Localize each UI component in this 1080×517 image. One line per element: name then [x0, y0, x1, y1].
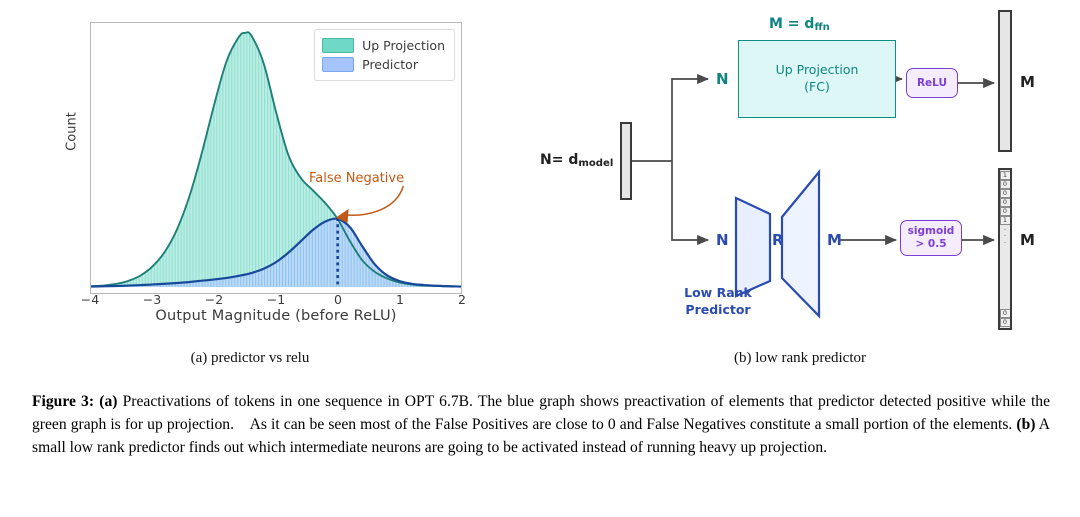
- x-tick-6: 2: [458, 292, 466, 307]
- x-tick-4: 0: [334, 292, 342, 307]
- figure-caption: Figure 3: (a) Preactivations of tokens i…: [32, 390, 1050, 459]
- output-vector-bar-top: [998, 10, 1012, 152]
- binary-mask-bits-bottom: 00: [1000, 309, 1011, 328]
- legend-item-predictor: Predictor: [322, 55, 445, 74]
- legend-item-up-projection: Up Projection: [322, 36, 445, 55]
- diagram-ffn-dimension-label: M = dffn: [769, 16, 830, 33]
- subcaption-a: (a) predictor vs relu: [0, 350, 500, 367]
- relu-chip-label: ReLU: [917, 77, 947, 90]
- chart-plot-area: Up Projection Predictor False Negative: [90, 22, 462, 294]
- chart-panel-predictor-vs-relu: Count: [22, 4, 482, 340]
- figure-row: Count: [0, 0, 1080, 345]
- binary-mask-bit: 0: [1000, 207, 1011, 216]
- binary-mask-vector-bar: 100001 ... 00: [998, 168, 1012, 330]
- legend-label-predictor: Predictor: [362, 57, 418, 72]
- x-tick-1: −3: [143, 292, 161, 307]
- label-m-lowrank-output: M: [827, 231, 842, 249]
- caption-text-a: Preactivations of tokens in one sequence…: [32, 393, 1050, 433]
- legend-swatch-predictor: [322, 57, 354, 72]
- sigmoid-chip-line-1: sigmoid: [908, 225, 955, 238]
- caption-tag-b: (b): [1016, 416, 1035, 433]
- chart-x-axis-label: Output Magnitude (before ReLU): [90, 308, 462, 324]
- up-projection-line-1: Up Projection: [776, 62, 859, 79]
- input-vector-bar: [620, 122, 632, 200]
- label-m-top-output: M: [1020, 73, 1035, 91]
- sigmoid-chip-line-2: > 0.5: [915, 238, 946, 251]
- false-negative-annotation: False Negative: [309, 171, 404, 186]
- x-tick-0: −4: [81, 292, 99, 307]
- false-negative-arrow: [345, 186, 404, 215]
- caption-figure-number: Figure 3:: [32, 393, 94, 410]
- low-rank-caption-line-1: Low Rank: [684, 285, 752, 300]
- x-tick-2: −2: [205, 292, 223, 307]
- legend-label-up-projection: Up Projection: [362, 38, 445, 53]
- chart-legend: Up Projection Predictor: [314, 29, 455, 81]
- x-tick-3: −1: [267, 292, 285, 307]
- chart-y-axis-label: Count: [65, 72, 80, 192]
- diagram-input-dimension-label: N= dmodel: [540, 152, 613, 169]
- binary-mask-bits-top: 100001: [1000, 170, 1011, 225]
- sigmoid-threshold-chip: sigmoid > 0.5: [900, 220, 962, 256]
- binary-mask-ellipsis: ...: [1004, 225, 1006, 244]
- binary-mask-bit: 0: [1000, 198, 1011, 207]
- diagram-panel-low-rank-predictor: N= dmodel M = dffn 100001 ... 00 Up Proj…: [520, 0, 1080, 345]
- subcaption-b: (b) low rank predictor: [520, 350, 1080, 367]
- label-n-top: N: [716, 70, 729, 88]
- up-projection-box-text: Up Projection (FC): [739, 41, 895, 117]
- x-tick-5: 1: [396, 292, 404, 307]
- binary-mask-bit: 0: [1000, 189, 1011, 198]
- label-r-middle: R: [772, 231, 784, 249]
- label-m-bottom-output: M: [1020, 231, 1035, 249]
- caption-tag-a: (a): [99, 393, 117, 410]
- relu-chip: ReLU: [906, 68, 958, 98]
- binary-mask-bit: 0: [1000, 180, 1011, 189]
- binary-mask-bit: 1: [1000, 171, 1011, 180]
- binary-mask-bit: 0: [1000, 309, 1011, 318]
- binary-mask-bit: 0: [1000, 318, 1011, 327]
- subcaptions: (a) predictor vs relu (b) low rank predi…: [0, 350, 1080, 376]
- up-projection-box: Up Projection (FC): [738, 40, 896, 118]
- low-rank-predictor-caption: Low Rank Predictor: [658, 285, 778, 319]
- legend-swatch-up-projection: [322, 38, 354, 53]
- up-projection-line-2: (FC): [804, 79, 830, 96]
- label-n-bottom: N: [716, 231, 729, 249]
- low-rank-caption-line-2: Predictor: [685, 302, 750, 317]
